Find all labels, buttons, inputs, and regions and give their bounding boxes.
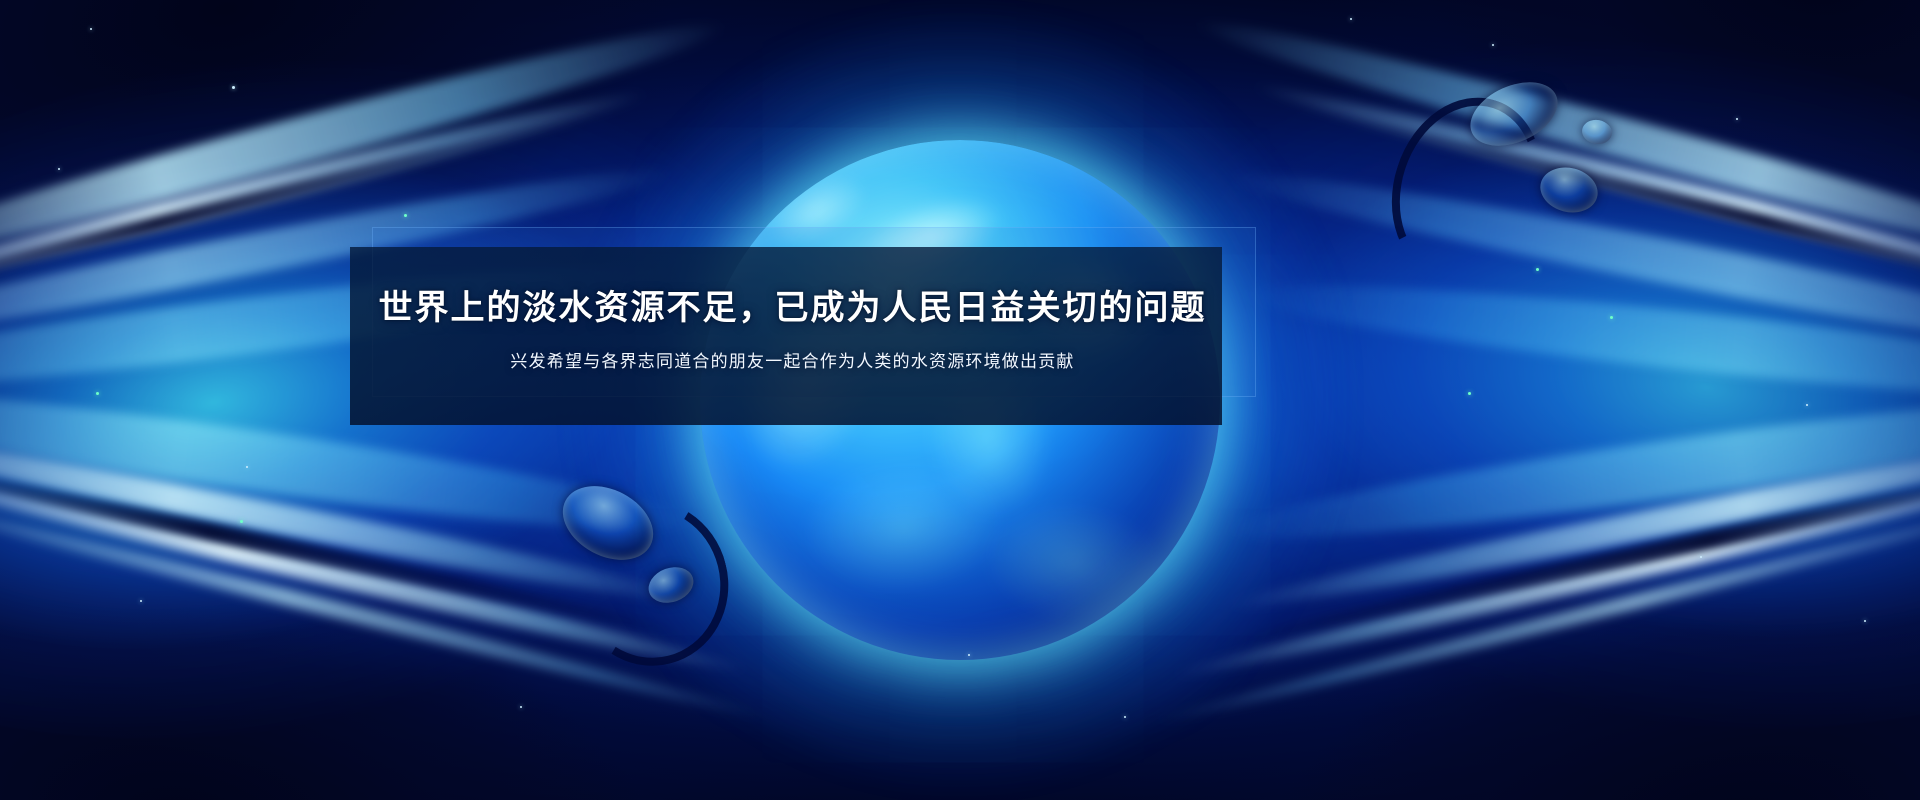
page-subtitle: 兴发希望与各界志同道合的朋友一起合作为人类的水资源环境做出贡献 <box>510 353 1074 372</box>
overlay-text-stack: 世界上的淡水资源不足，已成为人民日益关切的问题 兴发希望与各界志同道合的朋友一起… <box>350 237 1235 425</box>
page-title: 世界上的淡水资源不足，已成为人民日益关切的问题 <box>379 290 1207 327</box>
text-overlay-panel: 世界上的淡水资源不足，已成为人民日益关切的问题 兴发希望与各界志同道合的朋友一起… <box>350 237 1235 425</box>
hero-banner: 世界上的淡水资源不足，已成为人民日益关切的问题 兴发希望与各界志同道合的朋友一起… <box>0 0 1920 800</box>
